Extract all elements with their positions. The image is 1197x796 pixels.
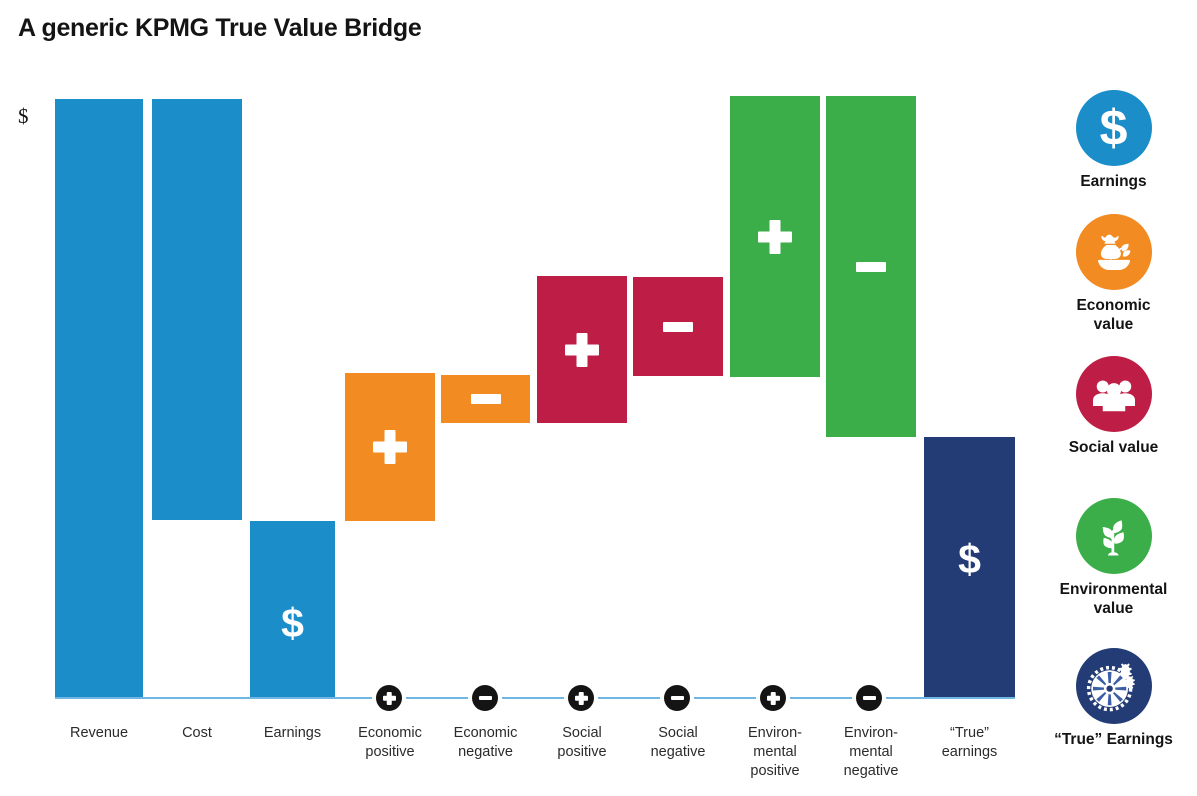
legend-label-line: “True” Earnings [1030,731,1197,750]
legend-label: “True” Earnings [1030,731,1197,750]
minus-glyph [863,696,876,701]
x-label-earnings: Earnings [241,724,345,743]
bar-cost [152,99,242,520]
legend-item-economic-value[interactable]: Economicvalue [1030,214,1197,334]
x-label-line: Economic [338,724,442,743]
legend-label: Earnings [1030,173,1197,192]
x-label-line: Revenue [47,724,151,743]
plus-glyph [575,692,588,705]
bar-earnings: $ [250,521,335,697]
x-label-line: “True” [918,724,1022,743]
legend-item-earnings[interactable]: $Earnings [1030,90,1197,192]
x-label-economic-positive: Economicpositive [338,724,442,762]
legend-label-line: Social value [1030,439,1197,458]
legend-label-line: value [1030,316,1197,335]
bar-economic-positive [345,373,435,521]
axis-segment [55,697,372,699]
dollar-sign-icon: $ [958,536,981,583]
x-label-line: Social [626,724,730,743]
people-group-icon [1076,356,1152,432]
minus-glyph [671,696,684,701]
x-label-line: Cost [145,724,249,743]
x-label-line: mental [819,743,923,762]
legend-item-true-earnings[interactable]: “True” Earnings [1030,648,1197,750]
connector-minus-icon [664,685,690,711]
minus-icon [663,322,693,332]
x-label-social-negative: Socialnegative [626,724,730,762]
bar-true-earnings: $ [924,437,1015,697]
gears-icon [1076,648,1152,724]
bar-social-positive [537,276,627,423]
x-label-line: Environ- [723,724,827,743]
x-label-cost: Cost [145,724,249,743]
x-label-line: positive [338,743,442,762]
bar-economic-negative [441,375,530,423]
plus-glyph [767,692,780,705]
x-label-line: Environ- [819,724,923,743]
legend-label: Environmentalvalue [1030,581,1197,618]
axis-segment [886,697,1015,699]
x-label-environmental-positive: Environ-mentalpositive [723,724,827,781]
x-label-line: positive [530,743,634,762]
legend-label: Social value [1030,439,1197,458]
legend-label-line: Environmental [1030,581,1197,600]
x-label-true-earnings: “True”earnings [918,724,1022,762]
x-label-line: negative [819,762,923,781]
x-label-line: negative [434,743,538,762]
plus-glyph [383,692,396,705]
minus-glyph [479,696,492,701]
x-label-social-positive: Socialpositive [530,724,634,762]
x-label-line: positive [723,762,827,781]
x-label-line: Social [530,724,634,743]
axis-segment [694,697,756,699]
legend-label: Economicvalue [1030,297,1197,334]
x-label-line: earnings [918,743,1022,762]
axis-segment [598,697,660,699]
plus-icon [758,220,792,254]
axis-segment [790,697,852,699]
x-label-line: negative [626,743,730,762]
legend-label-line: value [1030,600,1197,619]
connector-plus-icon [568,685,594,711]
bar-social-negative [633,277,723,376]
x-label-line: Economic [434,724,538,743]
dollar-sign-icon: $ [281,600,304,647]
plant-leaves-icon [1076,498,1152,574]
legend-label-line: Economic [1030,297,1197,316]
x-label-revenue: Revenue [47,724,151,743]
axis-segment [406,697,468,699]
minus-icon [856,262,886,272]
true-value-bridge-chart: $ $$ RevenueCostEarningsEconomicpositive… [0,0,1030,796]
legend-item-environmental-value[interactable]: Environmentalvalue [1030,498,1197,618]
legend-item-social-value[interactable]: Social value [1030,356,1197,458]
connector-plus-icon [376,685,402,711]
connector-minus-icon [856,685,882,711]
minus-icon [471,394,501,404]
x-label-line: mental [723,743,827,762]
x-label-environmental-negative: Environ-mentalnegative [819,724,923,781]
plus-icon [373,430,407,464]
plus-icon [565,333,599,367]
connector-minus-icon [472,685,498,711]
dollar-sign-icon: $ [1076,90,1152,166]
y-axis-unit-label: $ [18,104,29,129]
money-bag-wheat-bowl-icon [1076,214,1152,290]
legend-label-line: Earnings [1030,173,1197,192]
bar-environmental-positive [730,96,820,377]
bar-revenue [55,99,143,697]
axis-segment [502,697,564,699]
bar-environmental-negative [826,96,916,437]
x-label-line: Earnings [241,724,345,743]
connector-plus-icon [760,685,786,711]
x-label-economic-negative: Economicnegative [434,724,538,762]
